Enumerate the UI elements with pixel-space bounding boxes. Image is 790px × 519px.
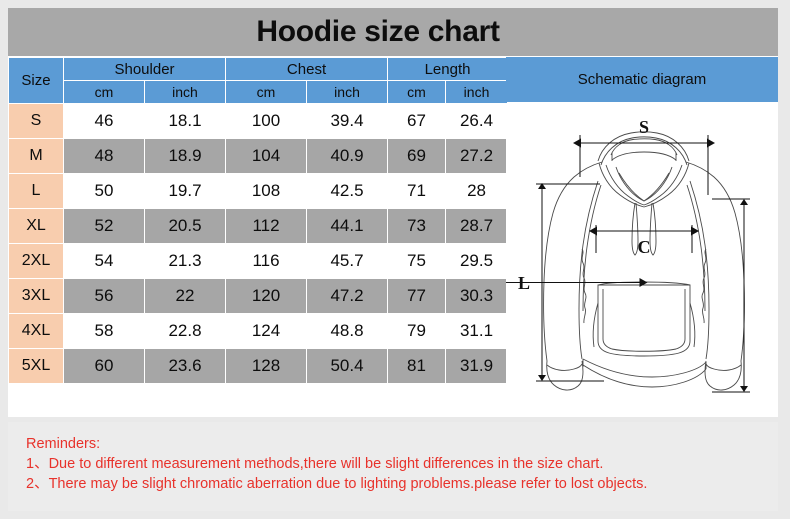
column-header-length-cm: cm (388, 81, 445, 103)
cell-shoulder-cm: 56 (64, 279, 144, 313)
column-header-shoulder-inch: inch (145, 81, 225, 103)
cell-chest-cm: 124 (226, 314, 306, 348)
cell-chest-cm: 128 (226, 349, 306, 383)
column-header-length-inch: inch (446, 81, 507, 103)
reminders-heading: Reminders: (26, 434, 647, 454)
cell-length-inch: 31.9 (446, 349, 507, 383)
reminders-footer: Reminders: 1、Due to different measuremen… (8, 422, 778, 511)
column-header-chest-cm: cm (226, 81, 306, 103)
column-group-chest: Chest (226, 58, 387, 80)
table-row: 4XL 58 22.8 124 48.8 79 31.1 (9, 314, 507, 348)
cell-shoulder-inch: 23.6 (145, 349, 225, 383)
cell-length-inch: 29.5 (446, 244, 507, 278)
cell-length-cm: 69 (388, 139, 445, 173)
table-row: 3XL 56 22 120 47.2 77 30.3 (9, 279, 507, 313)
column-group-shoulder: Shoulder (64, 58, 225, 80)
table-body: S 46 18.1 100 39.4 67 26.4 M 48 18.9 104… (9, 104, 507, 383)
cell-shoulder-inch: 18.9 (145, 139, 225, 173)
cell-chest-cm: 104 (226, 139, 306, 173)
cell-chest-inch: 39.4 (307, 104, 387, 138)
cell-chest-cm: 112 (226, 209, 306, 243)
schematic-header: Schematic diagram (506, 57, 778, 102)
column-header-chest-inch: inch (307, 81, 387, 103)
size-chart-page: Hoodie size chart Size Shoulder Chest Le… (0, 0, 790, 519)
table-row: 2XL 54 21.3 116 45.7 75 29.5 (9, 244, 507, 278)
cell-chest-inch: 45.7 (307, 244, 387, 278)
cell-size: 5XL (9, 349, 63, 383)
cell-chest-cm: 120 (226, 279, 306, 313)
cell-length-inch: 28 (446, 174, 507, 208)
cell-shoulder-cm: 54 (64, 244, 144, 278)
cell-size: 2XL (9, 244, 63, 278)
cell-shoulder-cm: 58 (64, 314, 144, 348)
cell-shoulder-cm: 46 (64, 104, 144, 138)
table-row: L 50 19.7 108 42.5 71 28 (9, 174, 507, 208)
cell-shoulder-inch: 21.3 (145, 244, 225, 278)
cell-size: XL (9, 209, 63, 243)
cell-shoulder-cm: 48 (64, 139, 144, 173)
table-row: 5XL 60 23.6 128 50.4 81 31.9 (9, 349, 507, 383)
cell-shoulder-inch: 22.8 (145, 314, 225, 348)
hoodie-illustration-svg: S C L (506, 103, 778, 417)
cell-shoulder-inch: 18.1 (145, 104, 225, 138)
column-header-size: Size (9, 58, 63, 103)
cell-length-cm: 73 (388, 209, 445, 243)
cell-length-cm: 71 (388, 174, 445, 208)
cell-chest-inch: 44.1 (307, 209, 387, 243)
cell-chest-cm: 108 (226, 174, 306, 208)
table-row: XL 52 20.5 112 44.1 73 28.7 (9, 209, 507, 243)
cell-length-cm: 67 (388, 104, 445, 138)
cell-size: L (9, 174, 63, 208)
cell-shoulder-inch: 19.7 (145, 174, 225, 208)
cell-shoulder-inch: 20.5 (145, 209, 225, 243)
cell-chest-inch: 47.2 (307, 279, 387, 313)
column-group-length: Length (388, 58, 507, 80)
cell-length-inch: 26.4 (446, 104, 507, 138)
cell-size: 3XL (9, 279, 63, 313)
table-head-unit-row: cm inch cm inch cm inch (9, 81, 507, 103)
column-header-shoulder-cm: cm (64, 81, 144, 103)
hoodie-outline (544, 132, 745, 390)
cell-length-cm: 79 (388, 314, 445, 348)
cell-shoulder-cm: 52 (64, 209, 144, 243)
cell-chest-inch: 50.4 (307, 349, 387, 383)
length-measure-arrow (506, 183, 750, 392)
title-banner: Hoodie size chart (8, 8, 778, 56)
cell-shoulder-cm: 60 (64, 349, 144, 383)
cell-length-inch: 28.7 (446, 209, 507, 243)
cell-length-cm: 77 (388, 279, 445, 313)
table-head: Size Shoulder Chest Length cm inch cm in… (9, 58, 507, 103)
cell-chest-inch: 42.5 (307, 174, 387, 208)
table-row: M 48 18.9 104 40.9 69 27.2 (9, 139, 507, 173)
cell-shoulder-cm: 50 (64, 174, 144, 208)
cell-chest-inch: 48.8 (307, 314, 387, 348)
cell-size: M (9, 139, 63, 173)
cell-shoulder-inch: 22 (145, 279, 225, 313)
cell-chest-cm: 100 (226, 104, 306, 138)
reminder-line-2: 2、There may be slight chromatic aberrati… (26, 474, 647, 494)
cell-length-cm: 81 (388, 349, 445, 383)
length-measure-label: L (518, 273, 530, 293)
cell-length-cm: 75 (388, 244, 445, 278)
cell-chest-inch: 40.9 (307, 139, 387, 173)
table-head-group-row: Size Shoulder Chest Length (9, 58, 507, 80)
schematic-header-label: Schematic diagram (578, 71, 706, 88)
cell-length-inch: 27.2 (446, 139, 507, 173)
reminder-line-1: 1、Due to different measurement methods,t… (26, 454, 647, 474)
cell-length-inch: 31.1 (446, 314, 507, 348)
page-title: Hoodie size chart (8, 15, 748, 49)
cell-length-inch: 30.3 (446, 279, 507, 313)
cell-chest-cm: 116 (226, 244, 306, 278)
chest-measure-label: C (638, 237, 651, 257)
cell-size: S (9, 104, 63, 138)
size-table: Size Shoulder Chest Length cm inch cm in… (8, 57, 508, 384)
table-row: S 46 18.1 100 39.4 67 26.4 (9, 104, 507, 138)
shoulder-measure-label: S (639, 117, 649, 137)
cell-size: 4XL (9, 314, 63, 348)
schematic-diagram: S C L (506, 103, 778, 417)
